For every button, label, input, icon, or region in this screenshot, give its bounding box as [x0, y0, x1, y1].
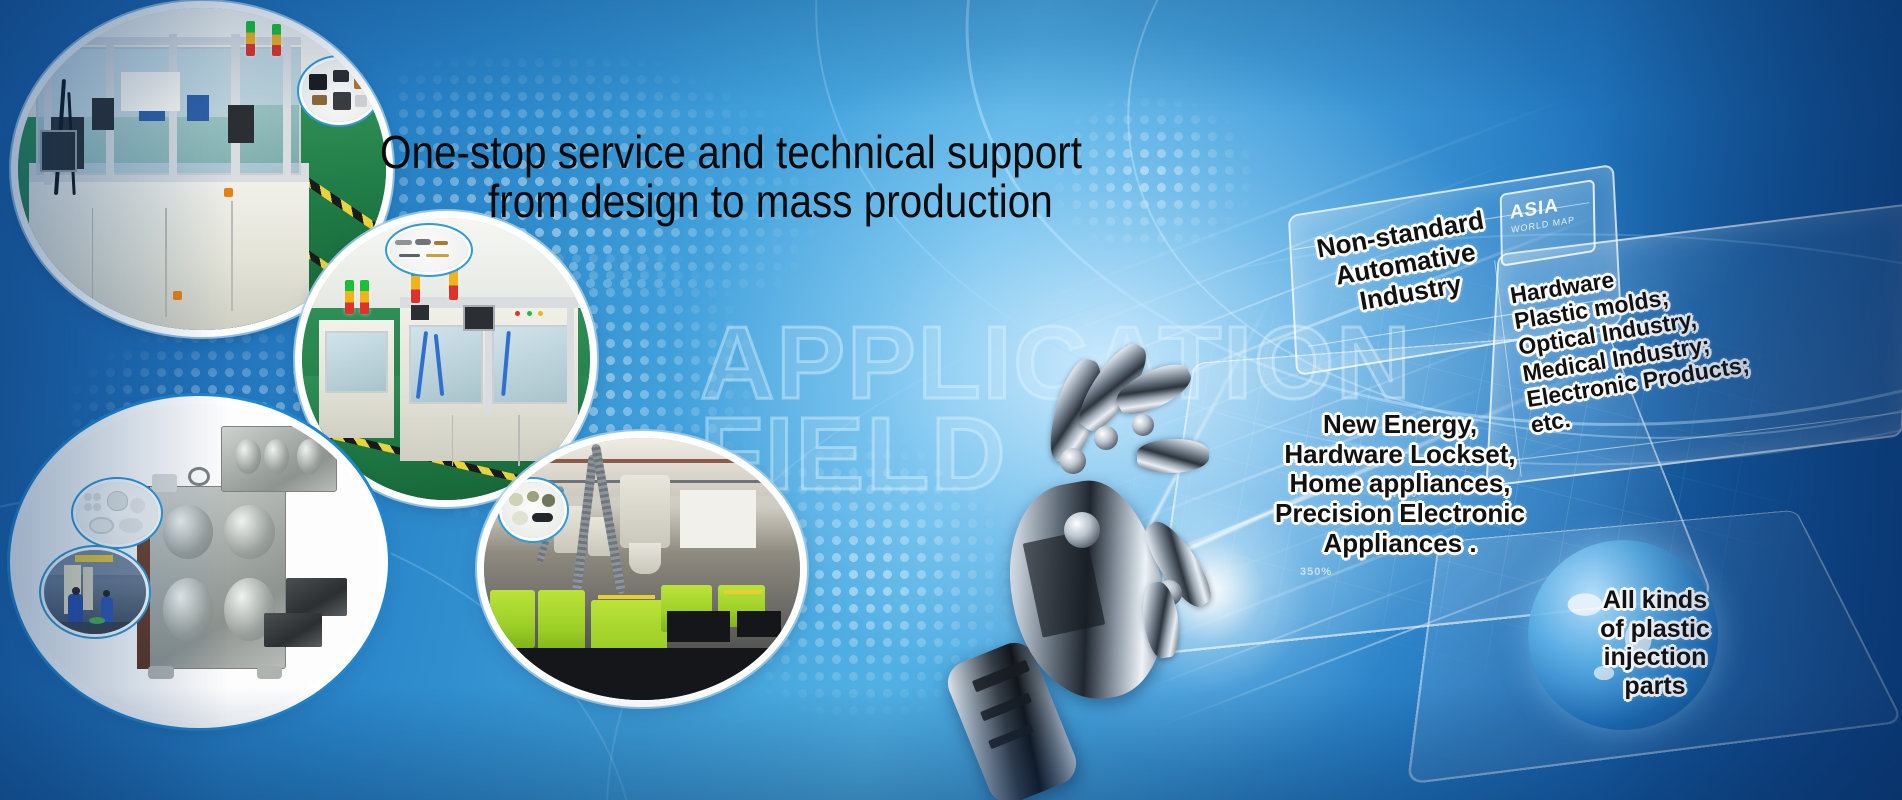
- photo-injection-molding: [484, 438, 800, 700]
- inset-workshop-workers: [44, 550, 146, 634]
- inset-molded-parts: [502, 482, 564, 538]
- inset-assembled-parts: [390, 228, 468, 272]
- headline: One-stop service and technical support f…: [380, 128, 1180, 226]
- injection-molding-image: [484, 438, 800, 700]
- headline-line-2: from design to mass production: [488, 177, 1097, 226]
- photo-mold-tooling: [18, 404, 380, 720]
- inset-finished-products: [76, 482, 158, 544]
- panel-plastic-injection[interactable]: All kinds of plastic injection parts: [1540, 560, 1780, 740]
- application-field-banner: 200% 75% 350% APPLICATION FIELD One-stop…: [0, 0, 1902, 800]
- headline-line-1: One-stop service and technical support: [380, 128, 1084, 177]
- inset-electronic-components: [302, 60, 376, 122]
- robot-hand: [960, 330, 1290, 800]
- panel-text-plastic-injection: All kinds of plastic injection parts: [1550, 586, 1760, 700]
